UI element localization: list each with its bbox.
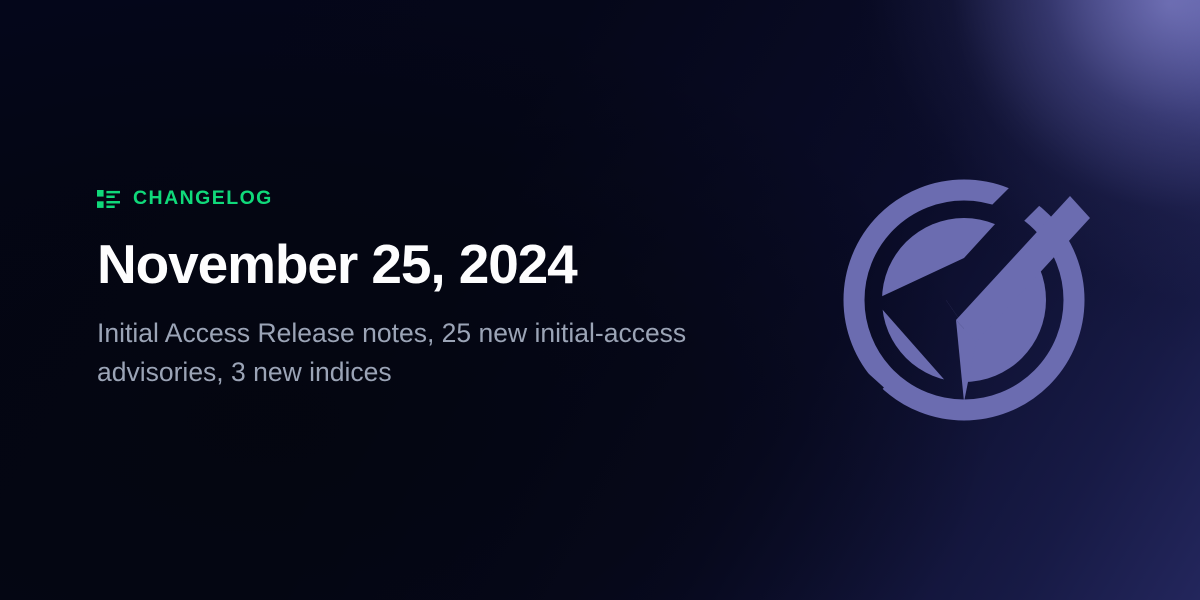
eyebrow-label: CHANGELOG (133, 189, 273, 209)
page-subtitle: Initial Access Release notes, 25 new ini… (97, 314, 697, 391)
changelog-list-icon (97, 190, 120, 209)
hero-content: CHANGELOG November 25, 2024 Initial Acce… (97, 186, 757, 392)
page-title: November 25, 2024 (97, 235, 757, 293)
eyebrow: CHANGELOG (97, 186, 757, 212)
changelog-hero-banner: CHANGELOG November 25, 2024 Initial Acce… (0, 0, 1200, 600)
brand-logo (838, 170, 1090, 428)
